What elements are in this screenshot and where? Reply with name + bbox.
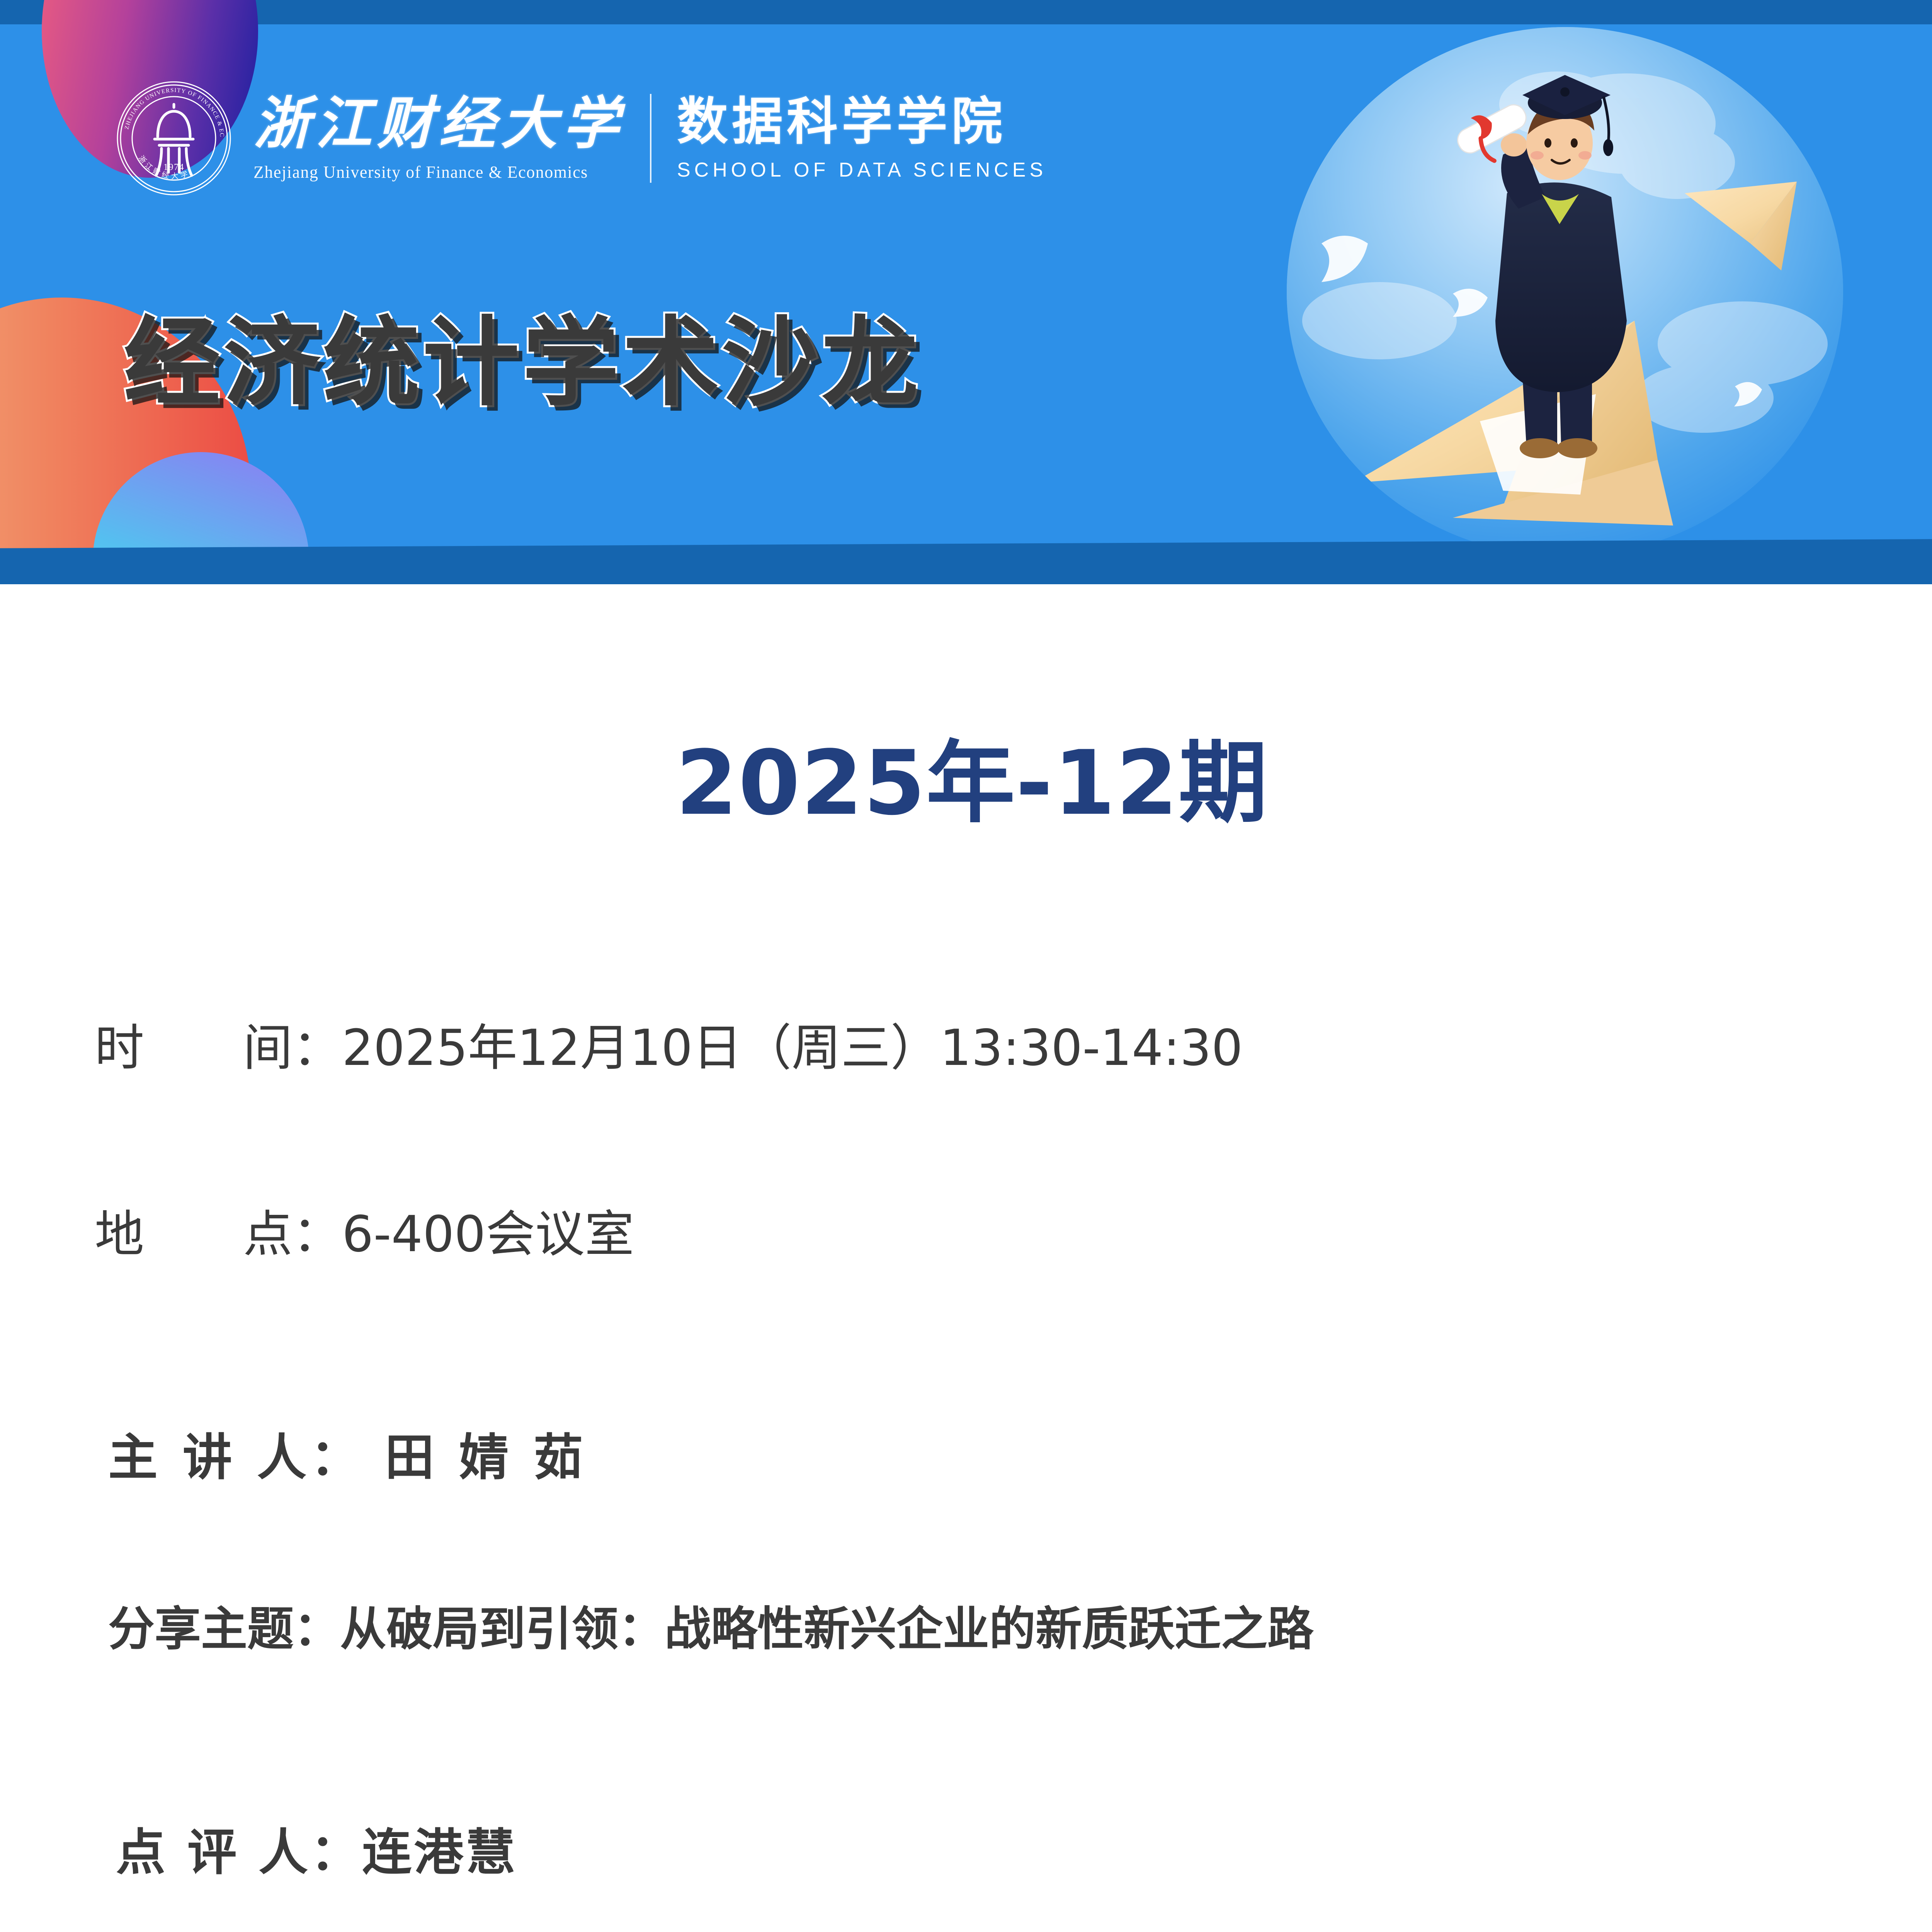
svg-text:1974: 1974 [163,162,184,172]
school-name-block: 数据科学学院 SCHOOL OF DATA SCIENCES [677,95,1047,182]
event-time: 时 间：2025年12月10日（周三）13:30-14:30 [95,1008,1243,1079]
logo-lockup: ZHEJIANG UNIVERSITY OF FINANCE & ECONOMI… [116,77,1047,200]
event-topic: 分享主题：从破局到引领：战略性新兴企业的新质跃迁之路 [108,1591,1314,1658]
issue-title: 2025年-12期 [0,711,1932,840]
header-top-bar [0,0,1932,24]
banner-title: 经济统计学术沙龙 [124,284,921,424]
event-location: 地 点：6-400会议室 [95,1194,634,1265]
school-name-cn: 数据科学学院 [677,95,1047,149]
university-name-cn: 浙江财经大学 [253,95,624,154]
school-name-en: SCHOOL OF DATA SCIENCES [677,158,1047,182]
header-banner: ZHEJIANG UNIVERSITY OF FINANCE & ECONOMI… [0,0,1932,584]
poster-root: ZHEJIANG UNIVERSITY OF FINANCE & ECONOMI… [0,0,1932,1932]
event-speaker: 主 讲 人： 田 婧 茹 [108,1417,587,1489]
university-emblem-icon: ZHEJIANG UNIVERSITY OF FINANCE & ECONOMI… [116,80,232,196]
header-bottom-bar [0,548,1932,584]
event-reviewer: 点 评 人：连港慧 [116,1812,517,1884]
logo-divider [650,94,651,183]
graduate-illustration [1287,27,1843,556]
university-name-block: 浙江财经大学 Zhejiang University of Finance & … [253,95,624,182]
university-name-en: Zhejiang University of Finance & Economi… [253,162,624,182]
svg-text:ZHEJIANG UNIVERSITY OF FINANCE: ZHEJIANG UNIVERSITY OF FINANCE & ECONOMI… [116,80,225,138]
